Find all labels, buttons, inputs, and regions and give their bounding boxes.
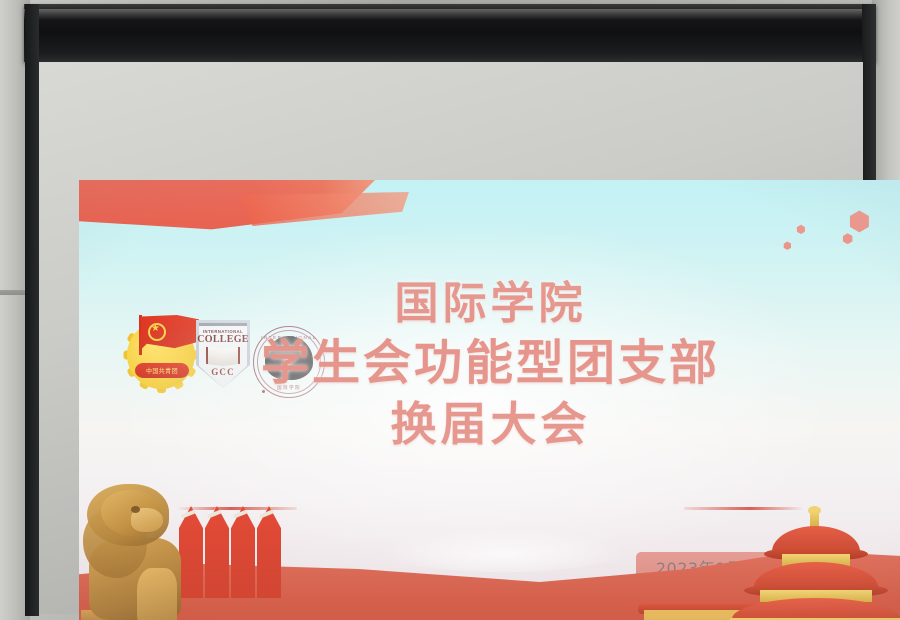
title-line-3: 换届大会 [79,394,900,454]
dove-icon: ⬢ [848,208,871,234]
temple-roof-base [732,598,900,620]
slide-title-block: 国际学院 学生会功能型团支部 换届大会 [79,276,900,454]
lion-eye [131,506,140,513]
roller-highlight [24,9,876,20]
projector-photo: 中国共青团 INTERNATIONAL COLLEGE GCC INTERNAT… [0,0,900,620]
projection-screen: 中国共青团 INTERNATIONAL COLLEGE GCC INTERNAT… [39,62,863,614]
guardian-lion-statue [81,482,231,620]
wave-highlight [379,528,629,572]
title-line-2: 学生会功能型团支部 [79,332,900,394]
screen-frame-left [25,4,39,616]
red-flag-item [257,506,281,598]
dove-icon: ⬢ [796,225,806,236]
title-line-1: 国际学院 [79,276,900,332]
projected-slide: 中国共青团 INTERNATIONAL COLLEGE GCC INTERNAT… [79,180,900,620]
temple-of-heaven [730,506,900,620]
dove-icon: ⬢ [783,242,792,252]
lion-foreleg [137,568,177,620]
red-ribbon-tail [239,192,409,226]
red-flag-item [231,506,255,598]
